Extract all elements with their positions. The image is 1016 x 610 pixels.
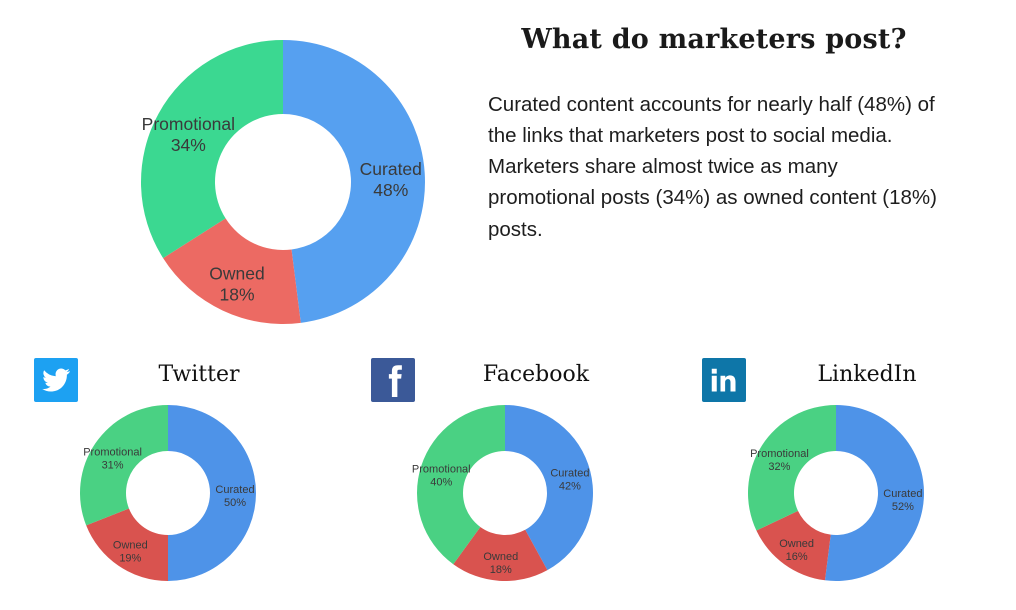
overall-donut-svg: Curated48%Owned18%Promotional34%: [118, 20, 448, 345]
platform-section-linkedin: LinkedIn Curated52%Owned16%Promotional32…: [686, 355, 986, 610]
overall-donut-chart: Curated48%Owned18%Promotional34%: [118, 20, 448, 345]
donut-slice-promotional: [141, 40, 283, 258]
donut-slice-promotional: [748, 405, 836, 530]
platform-section-facebook: Facebook Curated42%Owned18%Promotional40…: [355, 355, 655, 610]
donut-slice-promotional: [80, 405, 168, 525]
twitter-donut-svg: Curated50%Owned19%Promotional31%: [18, 403, 318, 603]
linkedin-donut-svg: Curated52%Owned16%Promotional32%: [686, 403, 986, 603]
linkedin-donut-chart: Curated52%Owned16%Promotional32%: [686, 403, 986, 603]
platform-title-twitter: Twitter: [18, 362, 318, 387]
twitter-donut-chart: Curated50%Owned19%Promotional31%: [18, 403, 318, 603]
facebook-donut-svg: Curated42%Owned18%Promotional40%: [355, 403, 655, 603]
facebook-donut-chart: Curated42%Owned18%Promotional40%: [355, 403, 655, 603]
platform-title-facebook: Facebook: [355, 362, 655, 387]
platform-section-twitter: Twitter Curated50%Owned19%Promotional31%: [18, 355, 318, 610]
page-title: What do marketers post?: [488, 24, 940, 55]
hero-text-block: What do marketers post? Curated content …: [488, 24, 940, 245]
hero-description: Curated content accounts for nearly half…: [488, 89, 940, 245]
platform-header: Twitter: [18, 355, 318, 407]
platform-header: Facebook: [355, 355, 655, 407]
platform-header: LinkedIn: [686, 355, 986, 407]
platform-title-linkedin: LinkedIn: [686, 362, 986, 387]
